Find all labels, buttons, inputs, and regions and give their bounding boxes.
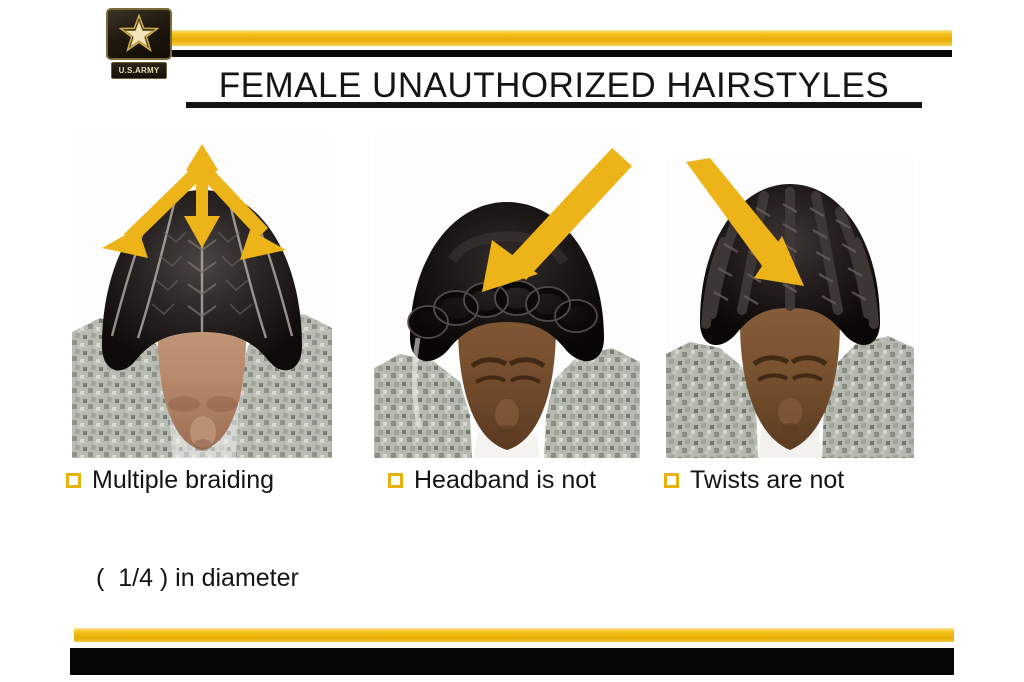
photo-twists bbox=[666, 158, 914, 458]
slide-canvas: U.S.ARMY FEMALE UNAUTHORIZED HAIRSTYLES bbox=[0, 0, 1024, 682]
top-gold-rule bbox=[172, 30, 952, 46]
caption-label: Headband is not bbox=[414, 468, 596, 493]
square-bullet-icon bbox=[664, 473, 679, 488]
page-title: FEMALE UNAUTHORIZED HAIRSTYLES bbox=[186, 66, 922, 106]
top-black-rule bbox=[172, 50, 952, 57]
star-icon bbox=[119, 14, 159, 54]
title-underline bbox=[186, 102, 922, 108]
caption-multiple-braiding: Multiple braiding bbox=[66, 464, 274, 496]
caption-twists: Twists are not bbox=[664, 464, 844, 496]
square-bullet-icon bbox=[66, 473, 81, 488]
logo-nameplate-text: U.S.ARMY bbox=[119, 67, 160, 75]
caption-headband: Headband is not bbox=[388, 464, 596, 496]
logo-badge bbox=[106, 8, 172, 60]
bottom-gold-rule bbox=[74, 628, 954, 642]
bottom-black-rule bbox=[70, 648, 954, 675]
photo-headband bbox=[374, 132, 640, 458]
diameter-footnote: ( 1/4 ) in diameter bbox=[96, 566, 299, 591]
caption-label: Twists are not bbox=[690, 468, 844, 493]
logo-nameplate: U.S.ARMY bbox=[111, 62, 167, 79]
us-army-logo: U.S.ARMY bbox=[106, 8, 172, 80]
square-bullet-icon bbox=[388, 473, 403, 488]
photo-multiple-braiding bbox=[72, 132, 332, 458]
photo-row bbox=[0, 132, 1024, 458]
caption-label: Multiple braiding bbox=[92, 468, 274, 493]
